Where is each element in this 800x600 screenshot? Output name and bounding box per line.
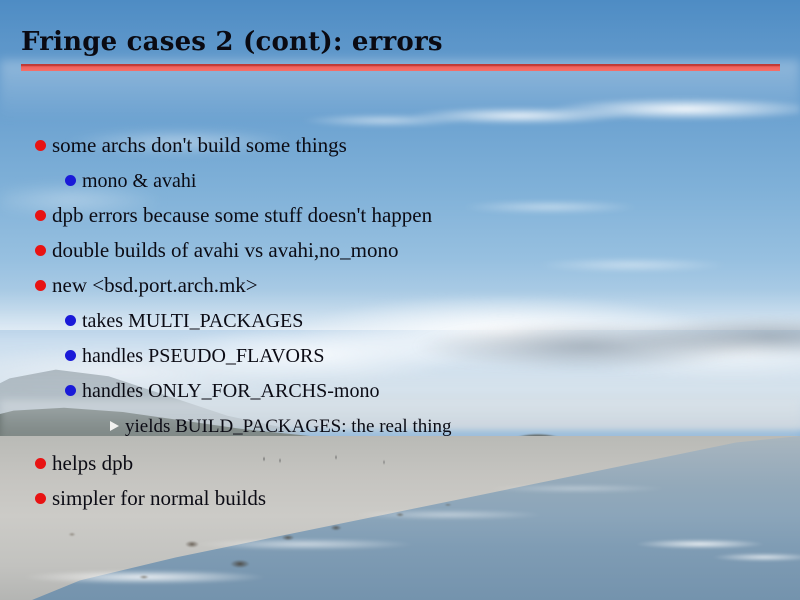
bullet-text: handles ONLY_FOR_ARCHS-mono [82,379,379,403]
bullet-list: some archs don't build some things mono … [0,128,800,516]
bullet-item: simpler for normal builds [0,481,800,516]
bullet-item: handles ONLY_FOR_ARCHS-mono [0,373,800,408]
bullet-text: simpler for normal builds [52,486,266,511]
white-triangle-bullet-icon [110,421,119,431]
red-dot-bullet-icon [35,280,46,291]
bullet-text: new <bsd.port.arch.mk> [52,273,258,298]
slide-content: Fringe cases 2 (cont): errors some archs… [0,0,800,600]
bullet-text: double builds of avahi vs avahi,no_mono [52,238,398,263]
bullet-text: dpb errors because some stuff doesn't ha… [52,203,432,228]
red-dot-bullet-icon [35,245,46,256]
slide-title: Fringe cases 2 (cont): errors [21,26,443,58]
blue-dot-bullet-icon [65,350,76,361]
red-dot-bullet-icon [35,140,46,151]
bullet-item: new <bsd.port.arch.mk> [0,268,800,303]
bullet-item: takes MULTI_PACKAGES [0,303,800,338]
bullet-item: handles PSEUDO_FLAVORS [0,338,800,373]
bullet-text: handles PSEUDO_FLAVORS [82,344,324,368]
presentation-slide: Fringe cases 2 (cont): errors some archs… [0,0,800,600]
blue-dot-bullet-icon [65,385,76,396]
bullet-text: some archs don't build some things [52,133,347,158]
red-dot-bullet-icon [35,458,46,469]
red-dot-bullet-icon [35,493,46,504]
bullet-text: mono & avahi [82,169,196,193]
bullet-text: yields BUILD_PACKAGES: the real thing [125,415,452,438]
red-dot-bullet-icon [35,210,46,221]
title-underline-rule [21,64,780,71]
bullet-item: yields BUILD_PACKAGES: the real thing [0,408,800,443]
bullet-text: takes MULTI_PACKAGES [82,309,303,333]
bullet-item: double builds of avahi vs avahi,no_mono [0,233,800,268]
bullet-text: helps dpb [52,451,133,476]
bullet-item: helps dpb [0,446,800,481]
bullet-item: some archs don't build some things [0,128,800,163]
bullet-item: mono & avahi [0,163,800,198]
bullet-item: dpb errors because some stuff doesn't ha… [0,198,800,233]
blue-dot-bullet-icon [65,175,76,186]
blue-dot-bullet-icon [65,315,76,326]
